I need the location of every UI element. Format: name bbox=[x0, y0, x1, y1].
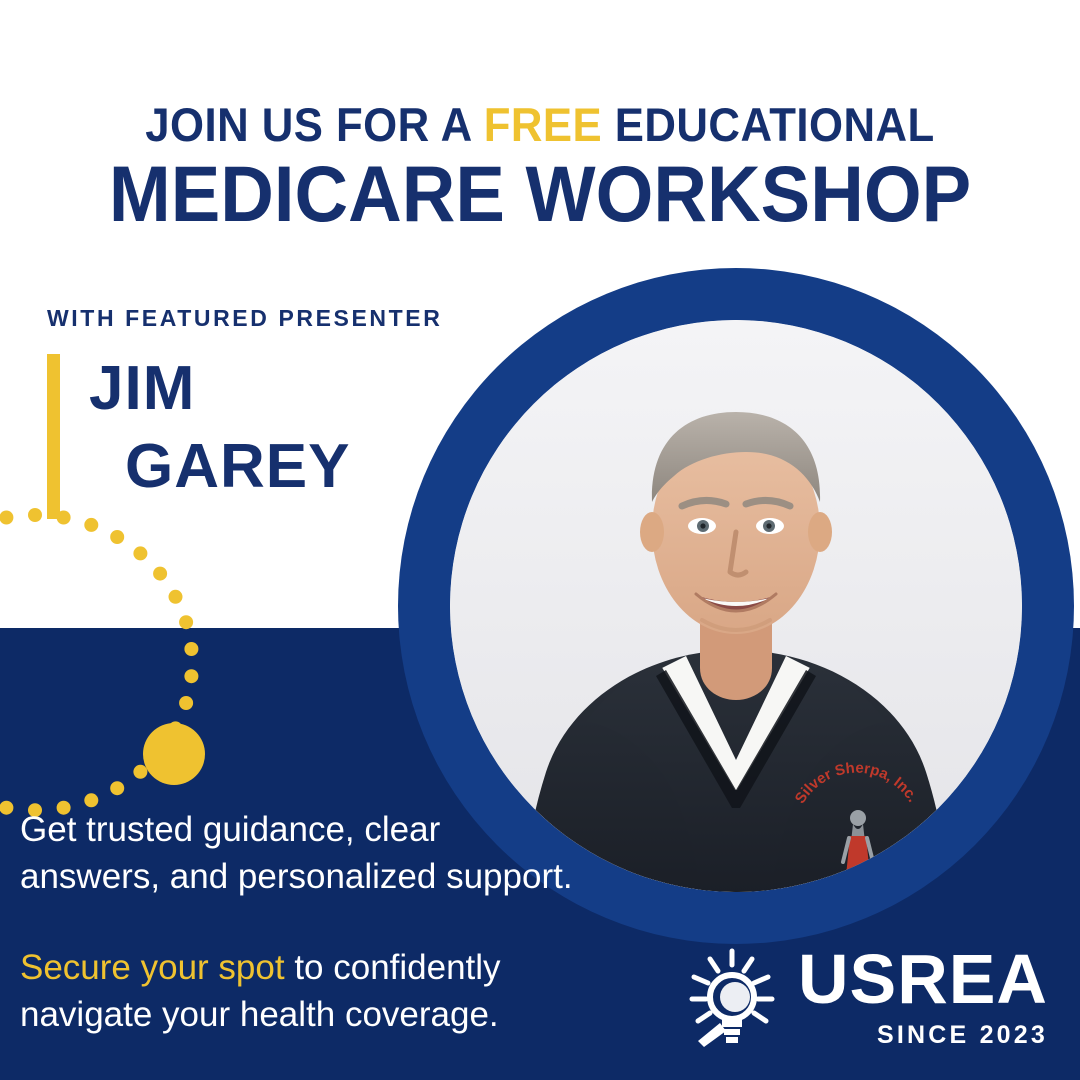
accent-bar-decoration bbox=[47, 354, 60, 519]
presenter-first-name: JIM bbox=[89, 350, 442, 428]
presenter-block: WITH FEATURED PRESENTER JIM GAREY bbox=[47, 305, 442, 506]
lightbulb-icon bbox=[686, 945, 782, 1049]
usrea-logo: USREA SINCE 2023 bbox=[686, 944, 1048, 1050]
body-paragraph-2-rest: to confidently bbox=[285, 948, 501, 987]
paragraph-spacer bbox=[20, 900, 660, 944]
logo-wordmark: USREA bbox=[798, 944, 1048, 1014]
logo-text-block: USREA SINCE 2023 bbox=[798, 944, 1048, 1050]
headline-block: JOIN US FOR A FREE EDUCATIONAL MEDICARE … bbox=[0, 98, 1080, 236]
logo-tagline: SINCE 2023 bbox=[877, 1020, 1048, 1050]
yellow-dot-decoration bbox=[143, 723, 205, 785]
headline-line-1: JOIN US FOR A FREE EDUCATIONAL bbox=[38, 98, 1042, 152]
presenter-kicker: WITH FEATURED PRESENTER bbox=[47, 305, 442, 332]
headline-line-1-prefix: JOIN US FOR A bbox=[145, 98, 483, 151]
body-paragraph-2-line-1: Secure your spot to confidently bbox=[20, 944, 660, 991]
body-paragraph-2-line-2: navigate your health coverage. bbox=[20, 991, 660, 1038]
body-paragraph-1-line-1: Get trusted guidance, clear bbox=[20, 806, 660, 853]
cta-highlight-text: Secure your spot bbox=[20, 948, 285, 987]
headline-line-1-suffix: EDUCATIONAL bbox=[602, 98, 935, 151]
headline-free-highlight: FREE bbox=[484, 98, 602, 151]
headline-line-2: MEDICARE WORKSHOP bbox=[32, 152, 1047, 236]
presenter-last-name: GAREY bbox=[89, 428, 442, 506]
presenter-name-row: JIM GAREY bbox=[47, 350, 442, 506]
body-copy-block: Get trusted guidance, clear answers, and… bbox=[20, 806, 660, 1038]
medicare-workshop-flyer: JOIN US FOR A FREE EDUCATIONAL MEDICARE … bbox=[0, 0, 1080, 1080]
body-paragraph-1-line-2: answers, and personalized support. bbox=[20, 853, 660, 900]
